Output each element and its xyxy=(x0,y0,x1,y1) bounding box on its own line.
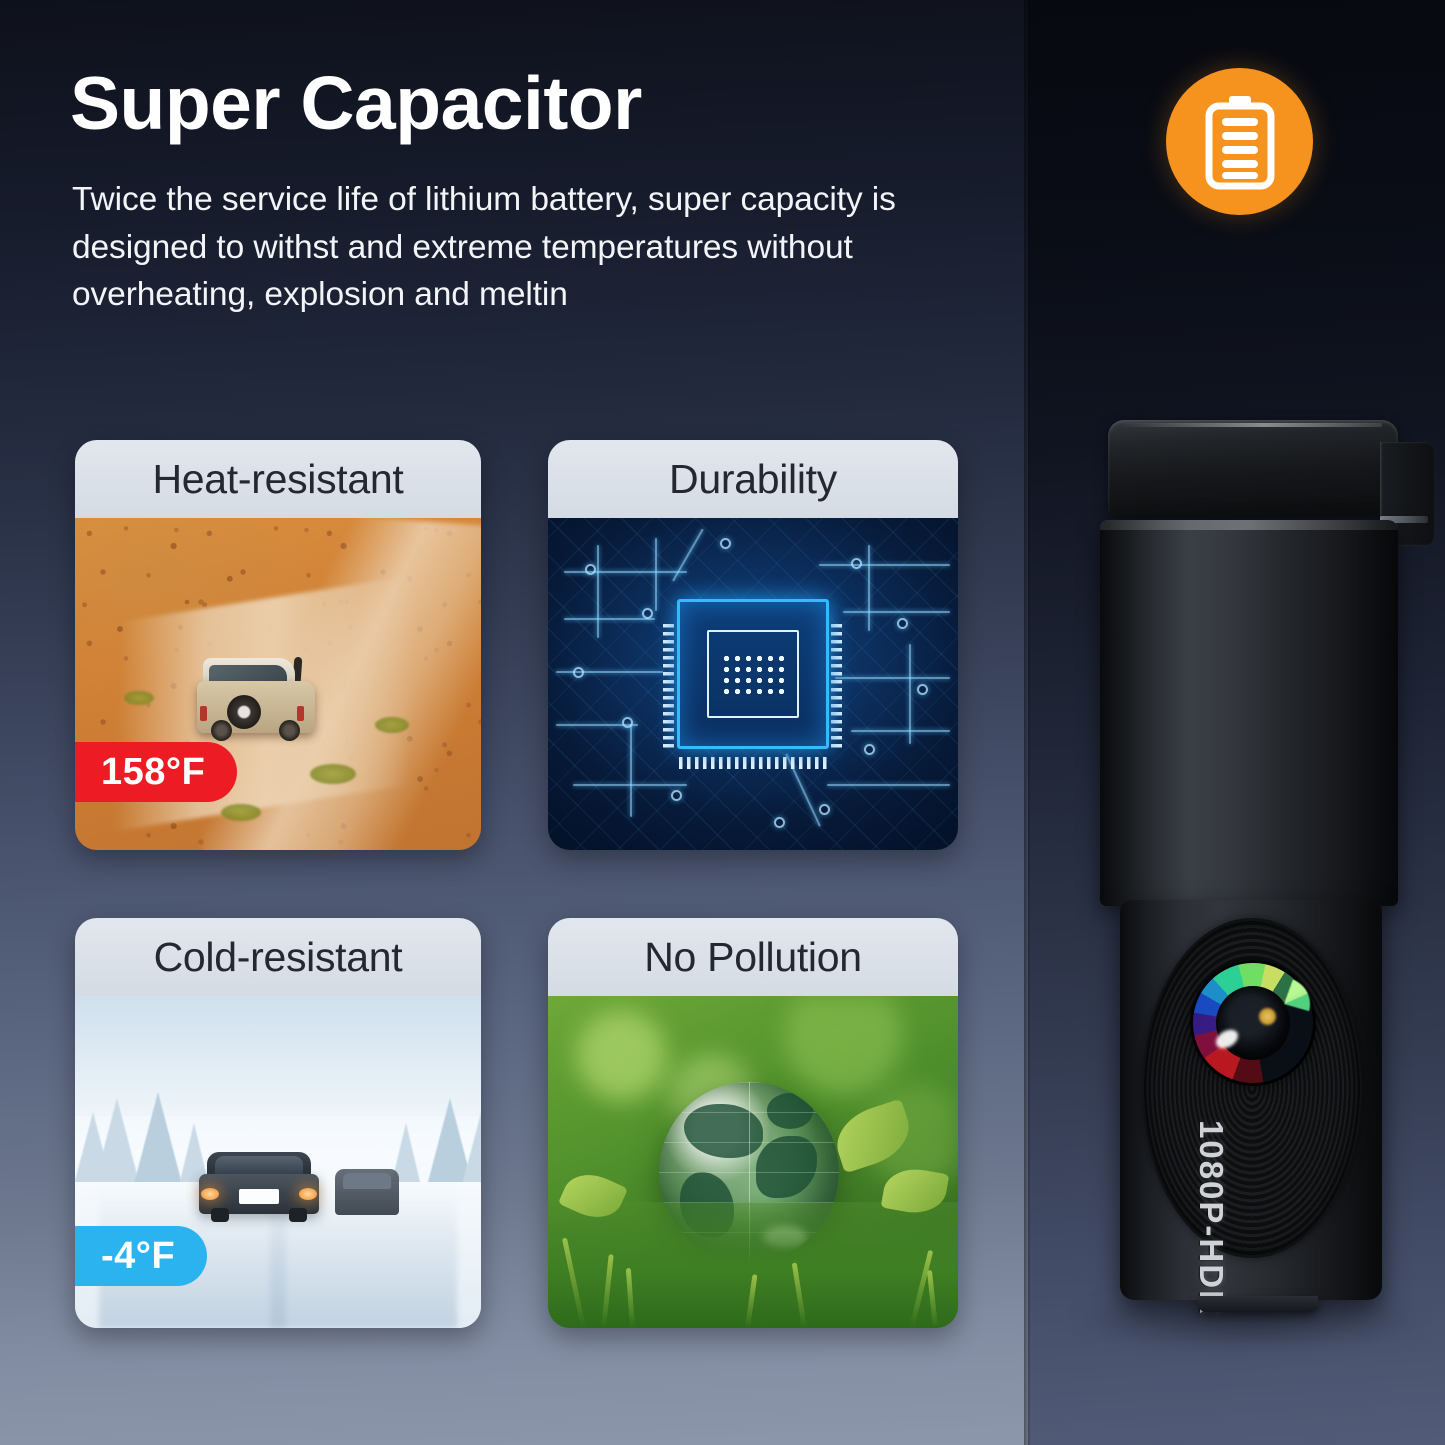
product-feature-banner: Super Capacitor Twice the service life o… xyxy=(0,0,1445,1445)
card-title: Durability xyxy=(669,456,837,503)
camera-body xyxy=(1100,520,1398,906)
card-title: Heat-resistant xyxy=(152,456,403,503)
dash-camera-product: 1080P-HDR xyxy=(1080,420,1420,1330)
camera-lens xyxy=(1190,960,1316,1086)
battery-icon xyxy=(1203,94,1277,190)
card-title: No Pollution xyxy=(644,934,861,981)
card-image-snow: -4°F xyxy=(75,996,481,1328)
card-header: Durability xyxy=(548,440,958,518)
card-image-circuit xyxy=(548,518,958,850)
page-title: Super Capacitor xyxy=(70,64,970,143)
camera-base-foot xyxy=(1198,1296,1318,1312)
second-car-illustration xyxy=(335,1169,399,1215)
card-image-globe xyxy=(548,996,958,1328)
temperature-badge-hot: 158°F xyxy=(75,742,237,802)
mount-highlight xyxy=(1120,423,1382,427)
temperature-badge-cold: -4°F xyxy=(75,1226,207,1286)
battery-badge xyxy=(1166,68,1313,215)
camera-mount-cap xyxy=(1108,420,1398,516)
feature-card-heat-resistant[interactable]: Heat-resistant xyxy=(75,440,481,850)
card-header: No Pollution xyxy=(548,918,958,996)
feature-card-cold-resistant[interactable]: Cold-resistant xyxy=(75,918,481,1328)
suv-illustration xyxy=(197,651,319,743)
card-header: Cold-resistant xyxy=(75,918,481,996)
feature-card-no-pollution[interactable]: No Pollution xyxy=(548,918,958,1328)
card-title: Cold-resistant xyxy=(154,934,403,981)
feature-card-durability[interactable]: Durability xyxy=(548,440,958,850)
camera-body-highlight xyxy=(1100,520,1398,530)
lens-spec-label: 1080P-HDR xyxy=(1192,1120,1230,1316)
card-image-desert: 158°F xyxy=(75,518,481,850)
car-illustration xyxy=(197,1142,323,1228)
page-description: Twice the service life of lithium batter… xyxy=(72,176,977,319)
chip-illustration xyxy=(677,599,829,749)
card-header: Heat-resistant xyxy=(75,440,481,518)
